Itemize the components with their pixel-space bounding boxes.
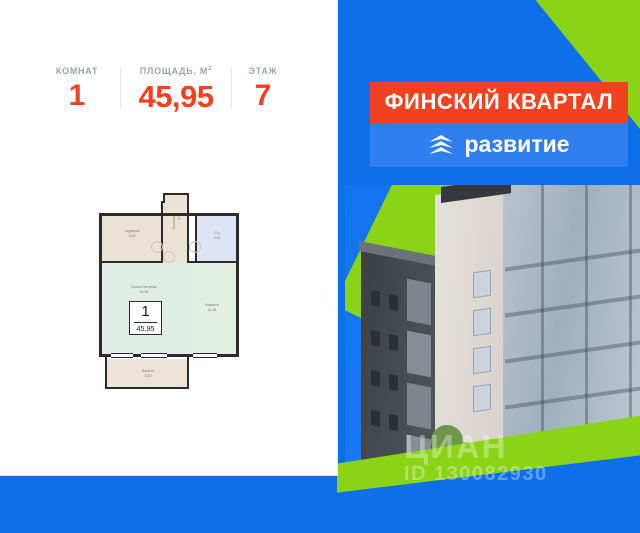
stat-rooms-label: КОМНАТ	[40, 66, 114, 76]
room-room-area: 11,48	[187, 308, 237, 312]
stat-area: ПЛОЩАДЬ, м2 45,95	[121, 66, 231, 112]
room-wardrobe: Гардероб 5,00	[101, 215, 163, 263]
stat-rooms: КОМНАТ 1	[34, 66, 120, 111]
chevron-stack-icon	[428, 134, 454, 156]
window	[473, 346, 491, 375]
room-balcony-label: Балкон	[107, 369, 189, 373]
window-opening	[193, 353, 217, 358]
wall-left	[99, 213, 102, 357]
stat-area-label-text: ПЛОЩАДЬ, м	[140, 66, 208, 76]
balcony-glazing	[407, 331, 431, 378]
floor-plan: Гардероб 5,00 Прихожая 5,07 С/у 4,55 Кух…	[97, 193, 245, 391]
stat-floor: ЭТАЖ 7	[232, 66, 294, 111]
room-kitchen-living-label: Кухня-Гостиная	[101, 285, 187, 289]
plan-summary-badge: 1 45,95	[129, 301, 162, 335]
badge-divider	[134, 322, 157, 323]
wall-interior	[102, 261, 162, 263]
room-bathroom: С/у 4,55	[197, 215, 237, 263]
room-balcony-area: 3,30	[107, 374, 189, 378]
window	[389, 334, 398, 351]
stat-area-label: ПЛОЩАДЬ, м2	[127, 66, 225, 76]
room-wardrobe-area: 5,00	[101, 234, 163, 238]
window	[389, 374, 398, 391]
window	[371, 410, 380, 427]
room-room: Комната 11,48	[187, 263, 237, 355]
wall-right	[236, 213, 239, 357]
room-balcony: Балкон 3,30	[107, 359, 189, 389]
brand-title: ФИНСКИЙ КВАРТАЛ	[370, 82, 628, 123]
brand-subtitle-row: развитие	[370, 123, 628, 167]
wall	[163, 193, 189, 195]
brand-subtitle: развитие	[464, 133, 569, 156]
balcony-glazing	[407, 279, 431, 326]
stat-floor-label: ЭТАЖ	[238, 66, 288, 76]
window-opening	[141, 353, 167, 358]
window	[473, 270, 491, 299]
room-kitchen-living-area: 16,55	[101, 290, 187, 294]
window	[371, 330, 380, 347]
door-arc	[163, 251, 175, 263]
stat-rooms-value: 1	[40, 81, 114, 111]
wall-balcony	[105, 387, 189, 389]
wall-balcony	[105, 357, 107, 389]
wall-interior	[195, 214, 197, 262]
brand-block: ФИНСКИЙ КВАРТАЛ развитие	[370, 82, 628, 167]
window-opening	[111, 353, 133, 358]
plan-badge-area: 45,95	[130, 324, 161, 333]
room-bathroom-label: С/у	[197, 231, 237, 235]
stat-floor-value: 7	[238, 81, 288, 111]
stat-area-value: 45,95	[127, 81, 225, 112]
plan-badge-rooms: 1	[130, 302, 161, 322]
door-arc	[151, 241, 163, 253]
info-card: КОМНАТ 1 ПЛОЩАДЬ, м2 45,95 ЭТАЖ 7 Гардер…	[0, 0, 338, 476]
window	[473, 308, 491, 337]
promo-panel	[337, 0, 640, 533]
window	[371, 290, 380, 307]
window	[389, 414, 398, 431]
stat-area-label-sup: 2	[208, 66, 212, 72]
wall-interior	[187, 201, 189, 263]
room-wardrobe-label: Гардероб	[101, 229, 163, 233]
door-arc	[189, 241, 201, 253]
window	[473, 384, 491, 413]
room-bathroom-area: 4,55	[197, 236, 237, 240]
stats-row: КОМНАТ 1 ПЛОЩАДЬ, м2 45,95 ЭТАЖ 7	[34, 66, 306, 112]
window	[389, 294, 398, 311]
wall-top	[99, 213, 239, 216]
window	[371, 370, 380, 387]
room-room-label: Комната	[187, 303, 237, 307]
advert-card-root: ФИНСКИЙ КВАРТАЛ развитие КОМНАТ 1 ПЛОЩАД…	[0, 0, 640, 533]
wall-balcony	[187, 357, 189, 389]
